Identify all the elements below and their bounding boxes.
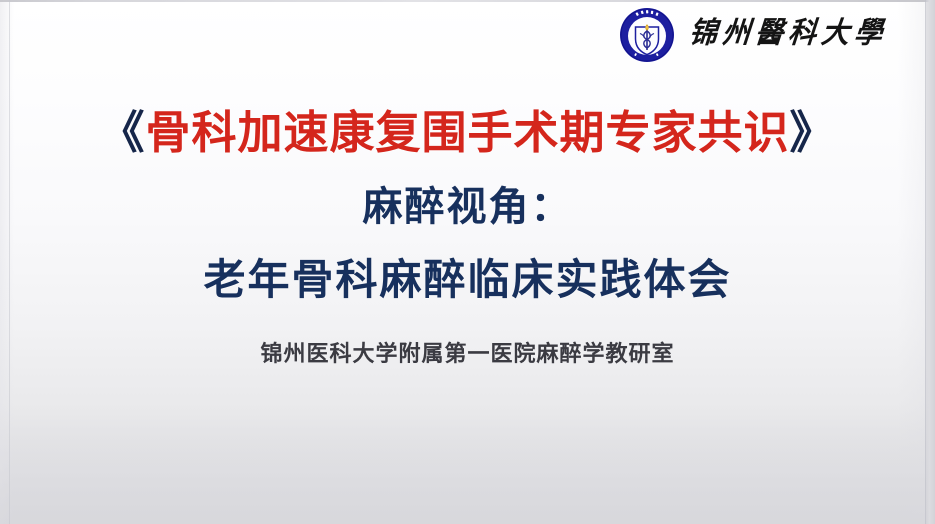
slide-bottom-gradient <box>0 404 935 524</box>
university-wordmark: 锦州醫科大學 <box>688 19 889 52</box>
title-line-secondary: 麻醉视角： <box>0 187 935 227</box>
close-bracket-glyph: 》 <box>790 107 836 158</box>
slide-left-edge-hairline <box>9 0 10 524</box>
presentation-slide: 锦州醫科大學 《骨科加速康复围手术期专家共识》 麻醉视角： 老年骨科麻醉临床实践… <box>0 0 935 524</box>
slide-title-block: 《骨科加速康复围手术期专家共识》 麻醉视角： 老年骨科麻醉临床实践体会 锦州医科… <box>0 110 935 365</box>
title-line-primary-text: 骨科加速康复围手术期专家共识 <box>145 107 789 158</box>
title-line-primary: 《骨科加速康复围手术期专家共识》 <box>0 110 935 155</box>
open-bracket-glyph: 《 <box>99 107 145 158</box>
title-line-tertiary: 老年骨科麻醉临床实践体会 <box>0 259 935 301</box>
affiliation-text: 锦州医科大学附属第一医院麻醉学教研室 <box>0 343 935 365</box>
university-branding: 锦州醫科大學 <box>618 6 887 64</box>
slide-top-edge-rule <box>0 0 935 2</box>
university-crest-icon <box>618 6 676 64</box>
slide-right-edge-strip <box>926 0 935 524</box>
